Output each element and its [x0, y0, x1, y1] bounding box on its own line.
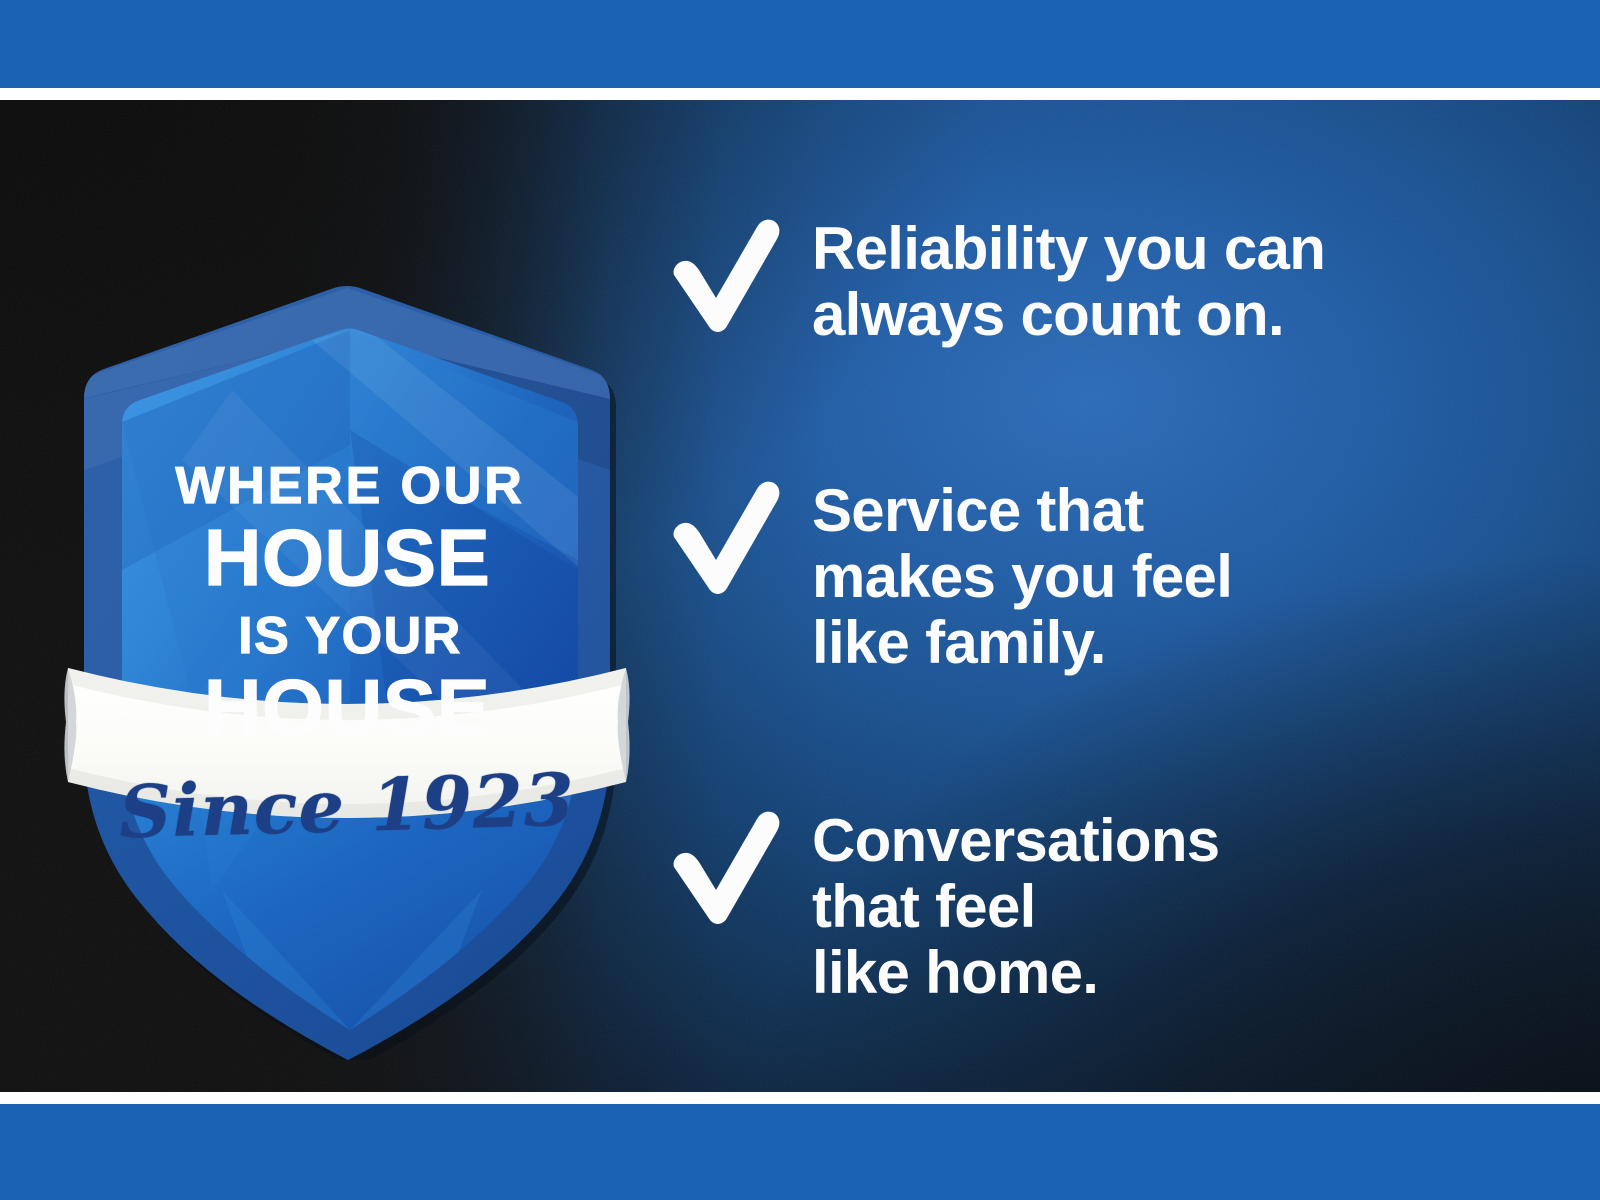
logo-since-banner-text: Since 1923: [61, 762, 633, 850]
checkmark-icon: [668, 480, 786, 596]
poster-frame: WHERE OUR HOUSE IS YOUR HOUSE Since 1923…: [0, 0, 1600, 1200]
benefit-text: Reliability you can always count on.: [812, 210, 1325, 348]
logo-line-2: HOUSE: [62, 518, 632, 598]
logo-line-1: WHERE OUR: [62, 460, 632, 512]
benefit-text: Service that makes you feel like family.: [812, 472, 1232, 676]
benefit-item-conversations: Conversations that feel like home.: [668, 802, 1219, 1006]
brand-shield-logo: WHERE OUR HOUSE IS YOUR HOUSE Since 1923: [62, 270, 632, 1060]
top-accent-bar: [0, 0, 1600, 88]
benefit-text: Conversations that feel like home.: [812, 802, 1219, 1006]
checkmark-icon: [668, 218, 786, 334]
checkmark-icon: [668, 810, 786, 926]
benefit-item-service: Service that makes you feel like family.: [668, 472, 1232, 676]
logo-line-3: IS YOUR: [62, 610, 632, 662]
benefit-item-reliability: Reliability you can always count on.: [668, 210, 1325, 348]
logo-line-4: HOUSE: [62, 668, 632, 748]
main-stage: WHERE OUR HOUSE IS YOUR HOUSE Since 1923…: [0, 100, 1600, 1092]
bottom-accent-bar: [0, 1104, 1600, 1200]
